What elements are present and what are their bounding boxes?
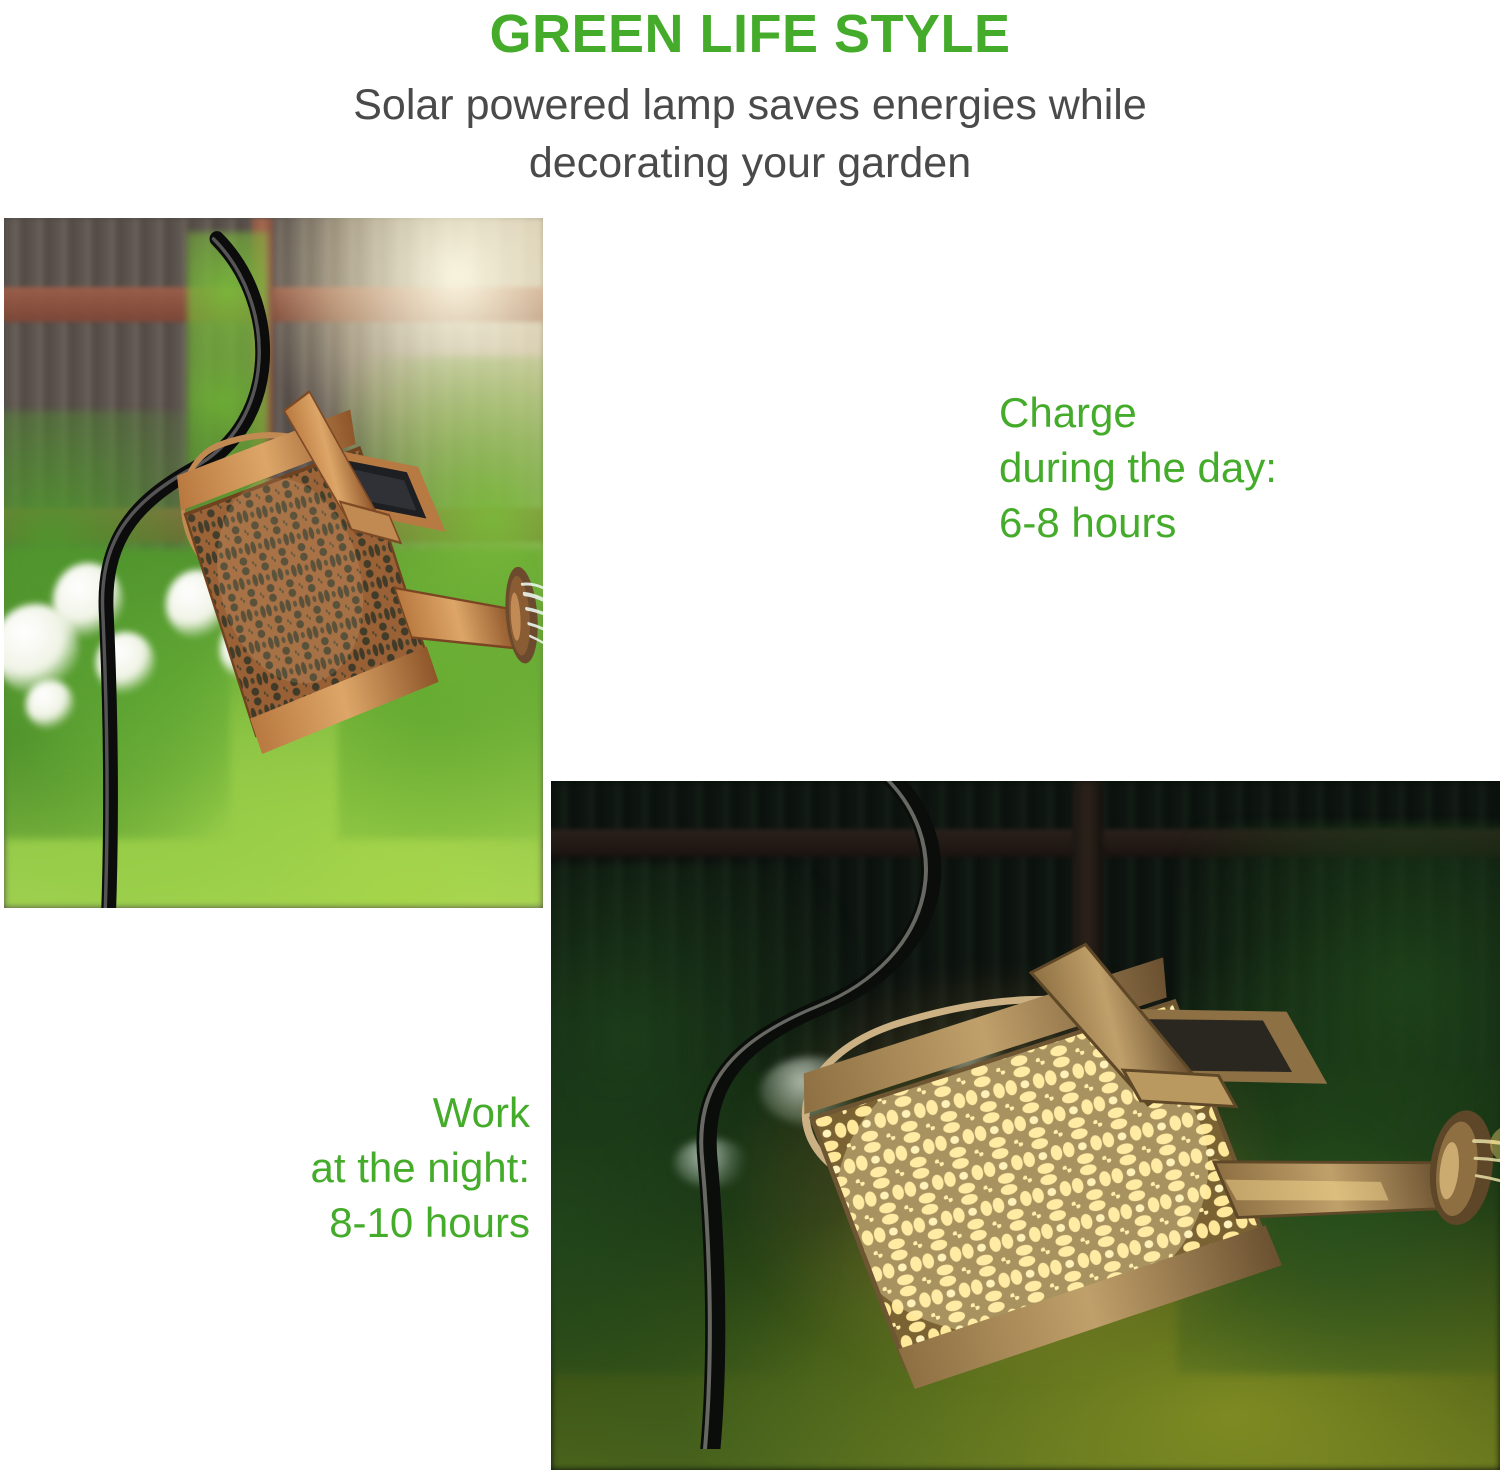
caption-day-line-1: Charge <box>999 385 1439 440</box>
caption-charge-day: Charge during the day: 6-8 hours <box>999 385 1439 550</box>
caption-work-night: Work at the night: 8-10 hours <box>100 1085 530 1250</box>
caption-night-line-2: at the night: <box>100 1140 530 1195</box>
caption-night-line-3: 8-10 hours <box>100 1195 530 1250</box>
photo-night-scene <box>551 781 1500 1470</box>
caption-day-line-3: 6-8 hours <box>999 495 1439 550</box>
subtitle-line-1: Solar powered lamp saves energies while <box>170 76 1330 134</box>
caption-night-line-1: Work <box>100 1085 530 1140</box>
subtitle-line-2: decorating your garden <box>170 134 1330 192</box>
page-subtitle: Solar powered lamp saves energies while … <box>170 76 1330 192</box>
page-headline: GREEN LIFE STYLE <box>0 4 1500 64</box>
caption-day-line-2: during the day: <box>999 440 1439 495</box>
photo-day-scene <box>4 218 543 908</box>
header-text-block: GREEN LIFE STYLE Solar powered lamp save… <box>0 0 1500 216</box>
